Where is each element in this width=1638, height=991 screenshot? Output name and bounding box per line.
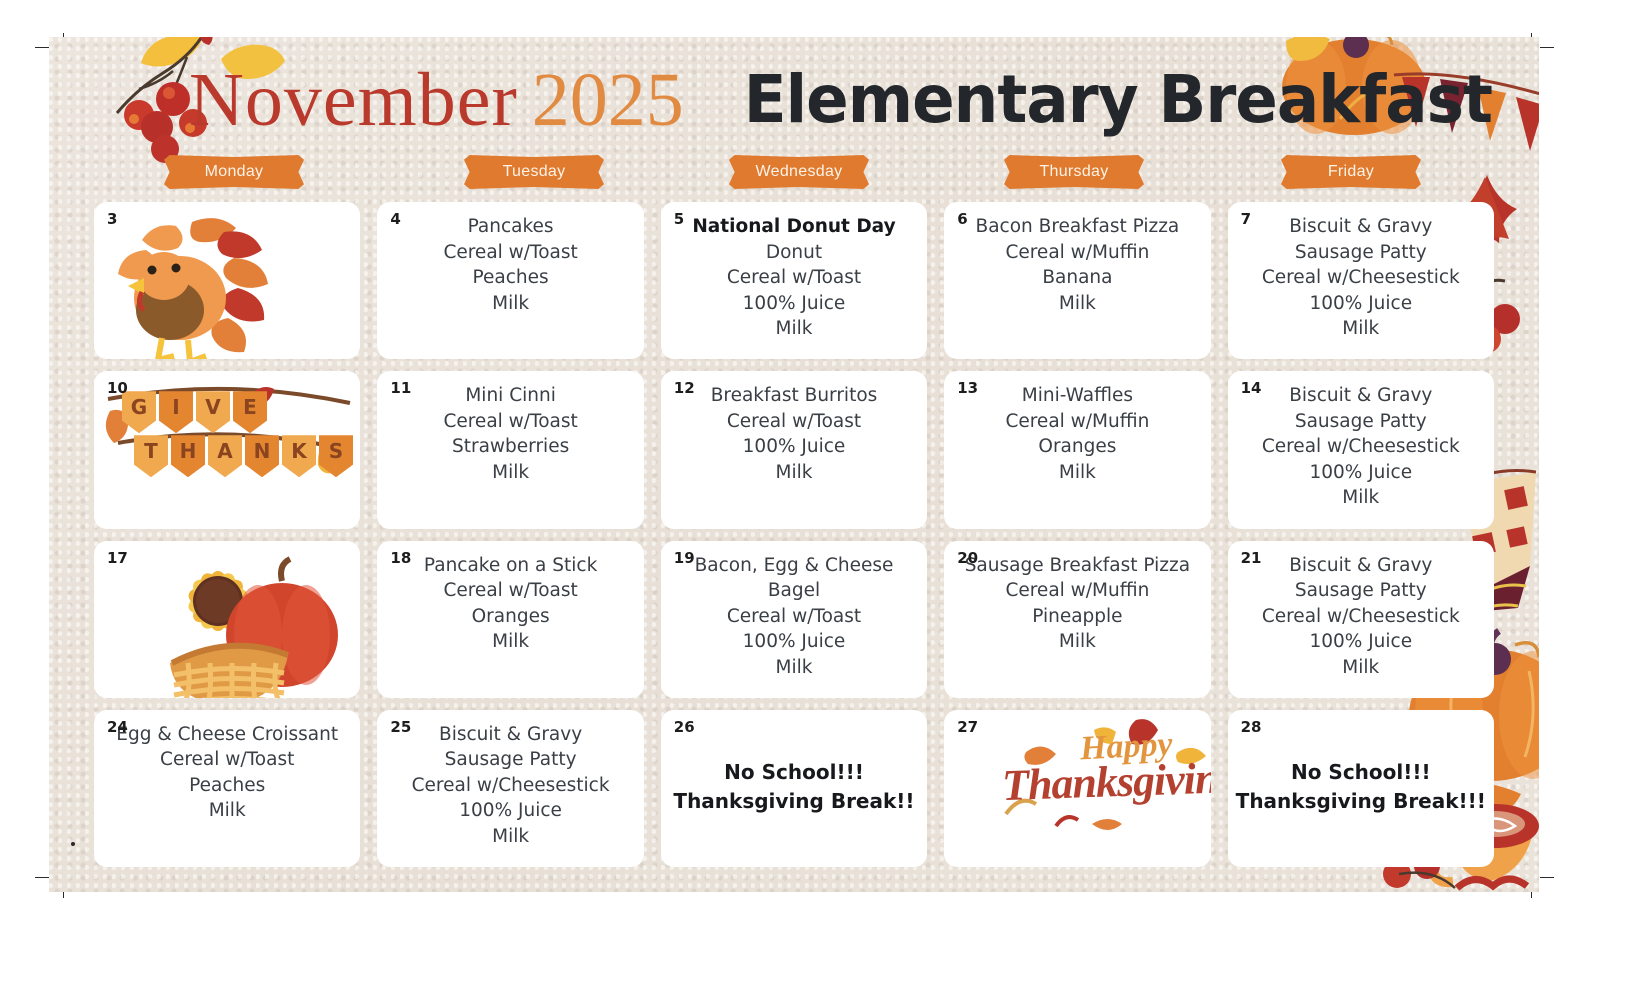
menu-item: Peaches <box>383 265 637 291</box>
day-number: 13 <box>957 379 978 397</box>
crop-mark-top-right-h <box>1540 47 1554 48</box>
menu-item: Bagel <box>667 578 921 604</box>
notice-line: No School!!! <box>661 758 927 787</box>
calendar-day-cell[interactable]: 10 GIVE THANKS <box>94 371 360 528</box>
menu-list: Sausage Breakfast PizzaCereal w/MuffinPi… <box>944 553 1210 655</box>
menu-item: Pancakes <box>383 214 637 240</box>
day-number: 28 <box>1241 718 1262 736</box>
calendar-day-cell[interactable]: 19Bacon, Egg & CheeseBagelCereal w/Toast… <box>661 541 927 698</box>
calendar-day-cell[interactable]: 26No School!!!Thanksgiving Break!! <box>661 710 927 867</box>
calendar-day-cell[interactable]: 4PancakesCereal w/ToastPeachesMilk <box>377 202 643 359</box>
crop-mark-top-left-h <box>35 47 49 48</box>
day-number: 26 <box>674 718 695 736</box>
menu-item: Milk <box>667 655 921 681</box>
calendar-day-cell[interactable]: 13Mini-WafflesCereal w/MuffinOrangesMilk <box>944 371 1210 528</box>
menu-item: Milk <box>950 291 1204 317</box>
day-number: 20 <box>957 549 978 567</box>
menu-list: Egg & Cheese CroissantCereal w/ToastPeac… <box>94 722 360 824</box>
menu-item: Cereal w/Cheesestick <box>383 773 637 799</box>
menu-item: Sausage Patty <box>1234 409 1488 435</box>
menu-item: Milk <box>100 798 354 824</box>
menu-item: Sausage Breakfast Pizza <box>950 553 1204 579</box>
bunting-line-2: THANKS <box>134 435 353 477</box>
bunting-letter: A <box>208 435 242 477</box>
menu-item: Cereal w/Muffin <box>950 240 1204 266</box>
calendar-day-cell[interactable]: 20Sausage Breakfast PizzaCereal w/Muffin… <box>944 541 1210 698</box>
calendar-day-cell[interactable]: 6Bacon Breakfast PizzaCereal w/MuffinBan… <box>944 202 1210 359</box>
menu-item: Cereal w/Toast <box>383 578 637 604</box>
bunting-letter: N <box>245 435 279 477</box>
menu-list: Breakfast BurritosCereal w/Toast100% Jui… <box>661 383 927 485</box>
menu-item: Cereal w/Muffin <box>950 409 1204 435</box>
menu-item: Sausage Patty <box>1234 240 1488 266</box>
menu-item: Mini-Waffles <box>950 383 1204 409</box>
day-number: 5 <box>674 210 684 228</box>
menu-item: Cereal w/Muffin <box>950 578 1204 604</box>
day-number: 24 <box>107 718 128 736</box>
day-number: 7 <box>1241 210 1251 228</box>
title-month: November <box>189 62 518 138</box>
menu-item: Biscuit & Gravy <box>1234 214 1488 240</box>
calendar-day-cell[interactable]: 21Biscuit & GravySausage PattyCereal w/C… <box>1228 541 1494 698</box>
bunting-letter: V <box>196 391 230 433</box>
calendar-day-cell[interactable]: 25Biscuit & GravySausage PattyCereal w/C… <box>377 710 643 867</box>
menu-item: Milk <box>950 460 1204 486</box>
menu-list: Biscuit & GravySausage PattyCereal w/Che… <box>1228 383 1494 511</box>
menu-list: National Donut DayDonutCereal w/Toast100… <box>661 214 927 342</box>
happy-thanksgiving-art: Happy Thanksgiving <box>996 722 1210 832</box>
weekday-ribbon-tuesday: Tuesday <box>464 155 604 189</box>
menu-item: Breakfast Burritos <box>667 383 921 409</box>
menu-item: Pancake on a Stick <box>383 553 637 579</box>
menu-item: Milk <box>383 824 637 850</box>
menu-item: Cereal w/Toast <box>667 265 921 291</box>
calendar-day-cell[interactable]: 18Pancake on a StickCereal w/ToastOrange… <box>377 541 643 698</box>
menu-item: Cereal w/Toast <box>383 409 637 435</box>
menu-item: 100% Juice <box>667 434 921 460</box>
bunting-letter: T <box>134 435 168 477</box>
day-number: 27 <box>957 718 978 736</box>
day-number: 14 <box>1241 379 1262 397</box>
menu-item: Cereal w/Toast <box>100 747 354 773</box>
poster-header: November 2025 Elementary Breakfast <box>49 37 1539 157</box>
menu-item: Cereal w/Cheesestick <box>1234 434 1488 460</box>
menu-item: Milk <box>950 629 1204 655</box>
menu-item: 100% Juice <box>383 798 637 824</box>
menu-item: Egg & Cheese Croissant <box>100 722 354 748</box>
bunting-letter: G <box>122 391 156 433</box>
menu-item: Milk <box>1234 485 1488 511</box>
menu-item: Milk <box>383 291 637 317</box>
day-number: 3 <box>107 210 117 228</box>
menu-item: Strawberries <box>383 434 637 460</box>
menu-item: Milk <box>383 629 637 655</box>
notice-line: Thanksgiving Break!! <box>661 787 927 816</box>
crop-mark-bottom-right-h <box>1540 877 1554 878</box>
menu-list: Biscuit & GravySausage PattyCereal w/Che… <box>1228 214 1494 342</box>
menu-item: Bacon, Egg & Cheese <box>667 553 921 579</box>
menu-list: Biscuit & GravySausage PattyCereal w/Che… <box>377 722 643 850</box>
menu-list: Mini CinniCereal w/ToastStrawberriesMilk <box>377 383 643 485</box>
menu-item: Pineapple <box>950 604 1204 630</box>
menu-item: Bacon Breakfast Pizza <box>950 214 1204 240</box>
menu-item: Cereal w/Toast <box>667 409 921 435</box>
menu-item: Sausage Patty <box>383 747 637 773</box>
calendar-day-cell[interactable]: 3 <box>94 202 360 359</box>
no-school-notice: No School!!!Thanksgiving Break!! <box>661 758 927 816</box>
day-number: 10 <box>107 379 128 397</box>
poster-canvas: November 2025 Elementary Breakfast Monda… <box>0 0 1638 991</box>
day-number: 6 <box>957 210 967 228</box>
day-number: 4 <box>390 210 400 228</box>
poster-sheet: November 2025 Elementary Breakfast Monda… <box>49 37 1539 892</box>
menu-item: 100% Juice <box>1234 629 1488 655</box>
menu-item: 100% Juice <box>667 291 921 317</box>
weekday-ribbon-wednesday: Wednesday <box>729 155 869 189</box>
thanksgiving-text: Thanksgiving <box>1001 752 1210 811</box>
crop-mark-bottom-left-h <box>35 877 49 878</box>
menu-item: Biscuit & Gravy <box>1234 383 1488 409</box>
menu-item: Milk <box>667 316 921 342</box>
title-year: 2025 <box>532 62 684 138</box>
menu-item: Sausage Patty <box>1234 578 1488 604</box>
menu-item: Mini Cinni <box>383 383 637 409</box>
bunting-letter: I <box>159 391 193 433</box>
ink-speck <box>71 842 75 846</box>
day-illustration: GIVE THANKS <box>94 371 360 528</box>
no-school-notice: No School!!!Thanksgiving Break!!! <box>1228 758 1494 816</box>
calendar-day-cell[interactable]: 12Breakfast BurritosCereal w/Toast100% J… <box>661 371 927 528</box>
bunting-line-1: GIVE <box>122 391 267 433</box>
weekday-ribbon-friday: Friday <box>1281 155 1421 189</box>
menu-item: Milk <box>1234 316 1488 342</box>
calendar-day-cell[interactable]: 14Biscuit & GravySausage PattyCereal w/C… <box>1228 371 1494 528</box>
menu-item: Biscuit & Gravy <box>383 722 637 748</box>
menu-item: Cereal w/Cheesestick <box>1234 604 1488 630</box>
menu-item: Donut <box>667 240 921 266</box>
bunting-letter: H <box>171 435 205 477</box>
menu-item: Banana <box>950 265 1204 291</box>
calendar-day-cell[interactable]: 17 <box>94 541 360 698</box>
day-illustration: Happy Thanksgiving <box>944 710 1210 867</box>
menu-list: Bacon Breakfast PizzaCereal w/MuffinBana… <box>944 214 1210 316</box>
menu-list: Bacon, Egg & CheeseBagelCereal w/Toast10… <box>661 553 927 681</box>
menu-list: Pancake on a StickCereal w/ToastOrangesM… <box>377 553 643 655</box>
calendar-day-cell[interactable]: 7Biscuit & GravySausage PattyCereal w/Ch… <box>1228 202 1494 359</box>
bunting-letter: E <box>233 391 267 433</box>
calendar-day-cell[interactable]: 28No School!!!Thanksgiving Break!!! <box>1228 710 1494 867</box>
bunting-letter: K <box>282 435 316 477</box>
menu-item: Oranges <box>383 604 637 630</box>
day-number: 19 <box>674 549 695 567</box>
day-number: 25 <box>390 718 411 736</box>
page-title: November 2025 Elementary Breakfast <box>189 45 1509 155</box>
weekday-ribbon-monday: Monday <box>164 155 304 189</box>
day-number: 18 <box>390 549 411 567</box>
day-number: 17 <box>107 549 128 567</box>
calendar-day-cell[interactable]: 27 Happy Thanksgiving <box>944 710 1210 867</box>
menu-item: 100% Juice <box>1234 460 1488 486</box>
day-number: 11 <box>390 379 411 397</box>
bunting-letter: S <box>319 435 353 477</box>
title-subject: Elementary Breakfast <box>743 67 1491 133</box>
menu-item: 100% Juice <box>667 629 921 655</box>
day-illustration <box>94 202 360 359</box>
notice-line: No School!!! <box>1228 758 1494 787</box>
notice-line: Thanksgiving Break!!! <box>1228 787 1494 816</box>
menu-item: Cereal w/Toast <box>383 240 637 266</box>
menu-item: Cereal w/Toast <box>667 604 921 630</box>
menu-item: Oranges <box>950 434 1204 460</box>
menu-list: Mini-WafflesCereal w/MuffinOrangesMilk <box>944 383 1210 485</box>
day-number: 21 <box>1241 549 1262 567</box>
day-number: 12 <box>674 379 695 397</box>
menu-item: Peaches <box>100 773 354 799</box>
calendar-day-cell[interactable]: 5National Donut DayDonutCereal w/Toast10… <box>661 202 927 359</box>
weekday-header-row: Monday Tuesday Wednesday Thursday Friday <box>49 155 1539 195</box>
calendar-day-cell[interactable]: 24Egg & Cheese CroissantCereal w/ToastPe… <box>94 710 360 867</box>
menu-item: Milk <box>383 460 637 486</box>
weekday-ribbon-thursday: Thursday <box>1004 155 1144 189</box>
menu-item: Milk <box>1234 655 1488 681</box>
menu-item: Biscuit & Gravy <box>1234 553 1488 579</box>
menu-item: Cereal w/Cheesestick <box>1234 265 1488 291</box>
calendar-grid: 3 4PancakesCereal w/ToastPeachesMilk5Nat… <box>94 202 1494 867</box>
menu-item: 100% Juice <box>1234 291 1488 317</box>
give-thanks-bunting: GIVE THANKS <box>100 377 356 495</box>
calendar-day-cell[interactable]: 11Mini CinniCereal w/ToastStrawberriesMi… <box>377 371 643 528</box>
menu-item: Milk <box>667 460 921 486</box>
day-illustration <box>94 541 360 698</box>
menu-highlight: National Donut Day <box>667 214 921 240</box>
menu-list: Biscuit & GravySausage PattyCereal w/Che… <box>1228 553 1494 681</box>
menu-list: PancakesCereal w/ToastPeachesMilk <box>377 214 643 316</box>
